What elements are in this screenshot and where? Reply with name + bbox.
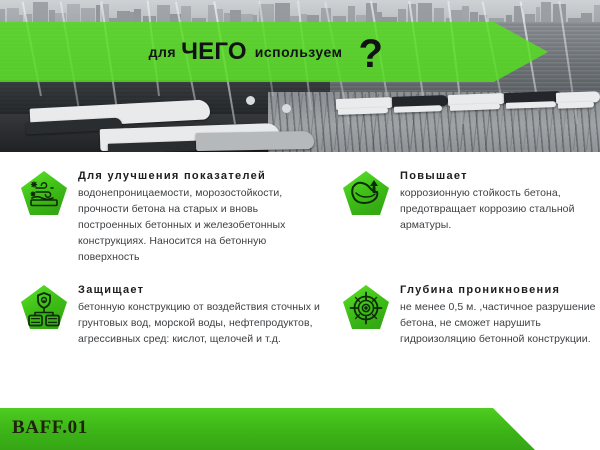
footer: BAFF.01 xyxy=(0,408,600,450)
strength-arm-icon xyxy=(342,170,390,216)
feature-body: коррозионную стойкость бетона, предотвра… xyxy=(400,186,594,234)
feature-body: водонепроницаемости, морозостойкости, пр… xyxy=(78,186,320,266)
product-label: BAFF.01 xyxy=(12,417,88,439)
banner-question-mark: ? xyxy=(358,34,383,74)
feature-item: Для улучшения показателей водонепроницае… xyxy=(20,170,320,266)
banner-title: для ЧЕГО используем ? xyxy=(0,22,548,82)
banner-title-suffix: используем xyxy=(255,44,343,60)
slide-root: для ЧЕГО используем ? xyxy=(0,0,600,450)
frost-resistance-icon xyxy=(20,170,68,216)
feature-text: Глубина проникновения не менее 0,5 м. ,ч… xyxy=(400,284,598,348)
feature-heading: Повышает xyxy=(400,170,594,184)
target-depth-icon xyxy=(342,284,390,330)
feature-text: Защищает бетонную конструкцию от воздейс… xyxy=(78,284,328,348)
hero-section: для ЧЕГО используем ? xyxy=(0,0,600,152)
feature-item: Глубина проникновения не менее 0,5 м. ,ч… xyxy=(342,284,598,348)
feature-heading: Для улучшения показателей xyxy=(78,170,320,184)
banner-title-prefix: для xyxy=(149,44,176,60)
banner-title-emphasis: ЧЕГО xyxy=(181,38,247,66)
feature-item: Защищает бетонную конструкцию от воздейс… xyxy=(20,284,328,348)
feature-item: Повышает коррозионную стойкость бетона, … xyxy=(342,170,594,234)
features-grid: Для улучшения показателей водонепроницае… xyxy=(0,160,600,392)
shield-protect-icon xyxy=(20,284,68,330)
feature-heading: Защищает xyxy=(78,284,328,298)
feature-body: бетонную конструкцию от воздействия сточ… xyxy=(78,300,328,348)
feature-text: Для улучшения показателей водонепроницае… xyxy=(78,170,320,266)
feature-body: не менее 0,5 м. ,частичное разрушение бе… xyxy=(400,300,598,348)
feature-text: Повышает коррозионную стойкость бетона, … xyxy=(400,170,594,234)
feature-heading: Глубина проникновения xyxy=(400,284,598,298)
